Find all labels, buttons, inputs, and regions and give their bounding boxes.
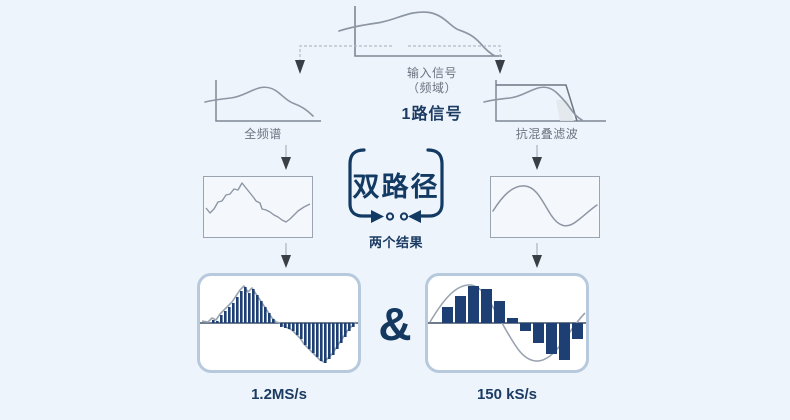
filtered-sine-waveform-window [490,176,600,238]
sine-waveform-svg [491,177,599,237]
left-inward-arrowhead [371,210,384,223]
right-branch-line [408,46,500,60]
anti-alias-filter-label: 抗混叠滤波 [477,127,617,142]
right-stage-arrow-1 [527,145,547,171]
noisy-trace [206,183,310,222]
diagram-canvas: 输入信号 （频域） 1路信号 全频谱 [0,0,790,420]
ampersand-combiner: & [369,301,421,347]
two-results-subtitle: 两个结果 [336,232,456,251]
right-branch-arrowhead [495,60,505,74]
spectrum-curve [205,87,313,116]
positive-bars [212,287,275,323]
right-stage-arrow-2-svg [527,243,547,269]
low-rate-bar-chart-svg [428,276,586,370]
sine-trace [493,186,597,226]
left-stage-arrow-1-svg [276,145,296,171]
result-dot-right [401,213,407,219]
axis-lines [496,80,606,121]
arrow-head [532,157,542,170]
full-spectrum-chart [203,78,328,128]
anti-alias-spectrum-chart [482,78,612,128]
wideband-waveform-svg [204,177,312,237]
high-rate-label: 1.2MS/s [199,386,359,403]
full-spectrum-svg [203,78,328,128]
dual-path-title: 双路径 [338,165,454,204]
wideband-time-waveform-window [203,176,313,238]
left-branch-arrowhead [295,60,305,74]
left-branch-line [300,46,392,60]
right-inward-arrowhead [408,210,421,223]
low-rate-result-panel [425,273,589,373]
branch-split-svg [280,30,520,78]
left-stage-arrow-2-svg [276,243,296,269]
high-rate-bar-chart-svg [200,276,358,370]
branch-split-connectors [280,30,520,78]
axis-lines [216,80,321,121]
low-rate-label: 150 kS/s [427,386,587,403]
left-stage-arrow-1 [276,145,296,171]
full-spectrum-label: 全频谱 [198,127,328,142]
arrow-head [281,255,291,268]
arrow-head [281,157,291,170]
high-rate-result-panel [197,273,361,373]
right-stage-arrow-1-svg [527,145,547,171]
left-stage-arrow-2 [276,243,296,269]
anti-alias-spectrum-svg [482,78,612,128]
arrow-head [532,255,542,268]
result-dot-left [387,213,393,219]
right-stage-arrow-2 [527,243,547,269]
